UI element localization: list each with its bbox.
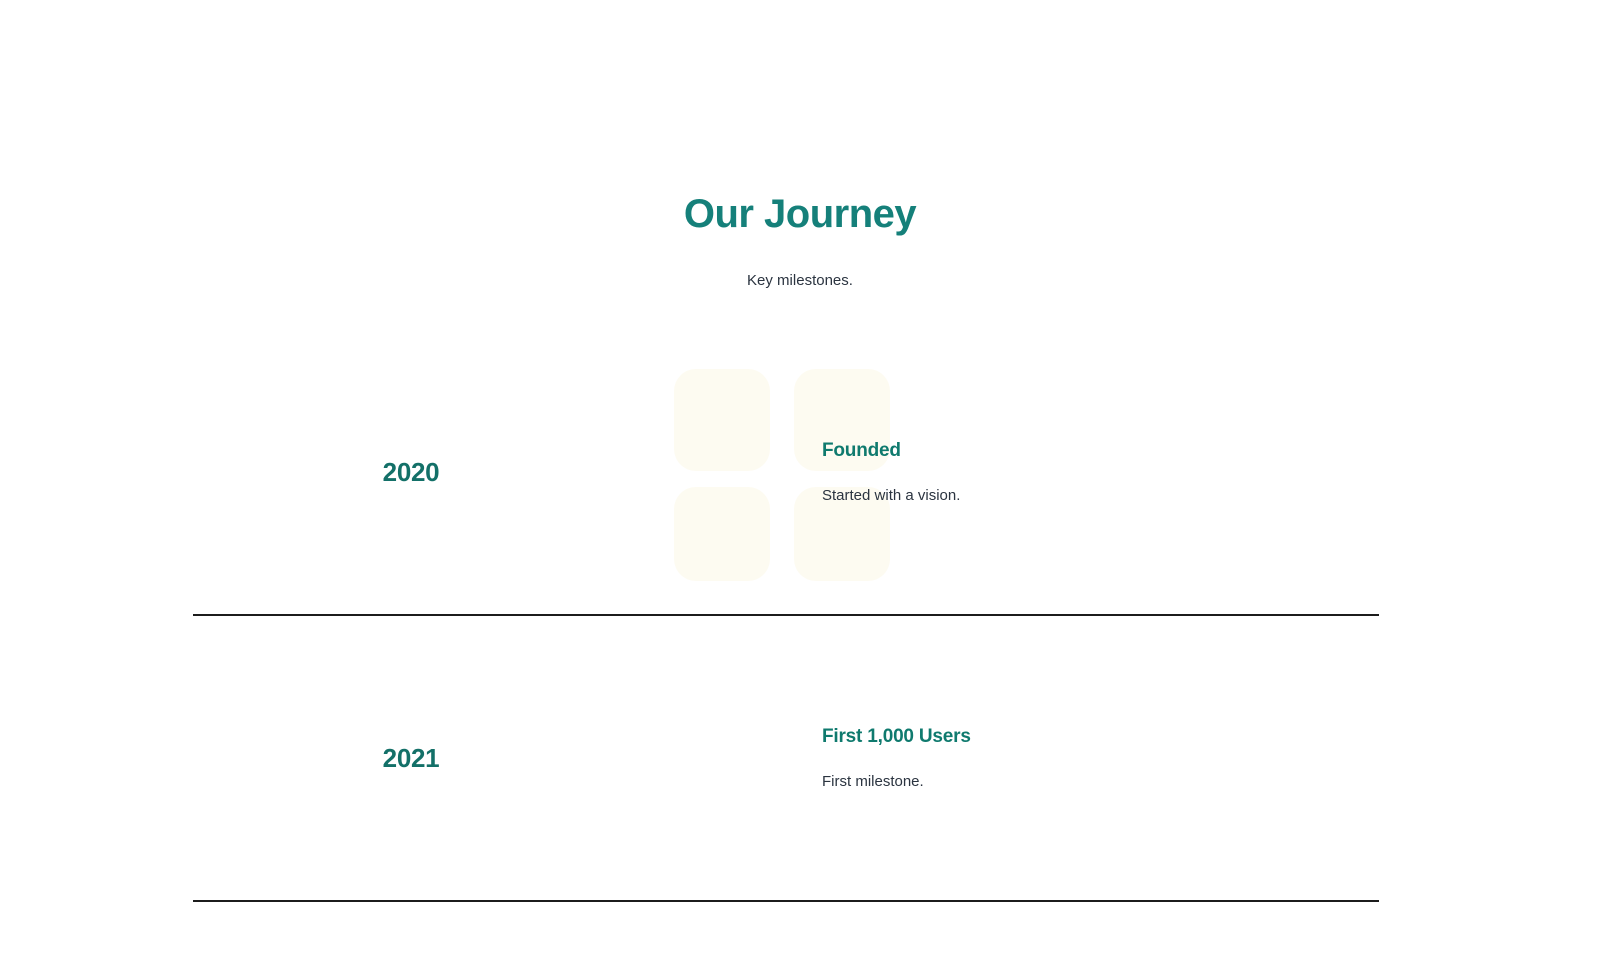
our-journey-page: Our Journey Key milestones. 2020 Founded…: [0, 0, 1600, 978]
timeline-row[interactable]: 2021 First 1,000 Users First milestone.: [193, 616, 1379, 902]
timeline-list: 2020 Founded Started with a vision. 2021…: [193, 330, 1379, 902]
section-header: Our Journey Key milestones.: [0, 190, 1600, 292]
timeline-description: Started with a vision.: [822, 464, 1379, 507]
timeline-year: 2021: [193, 742, 629, 774]
timeline-description: First milestone.: [822, 750, 1379, 793]
timeline-row-body: First 1,000 Users First milestone.: [629, 724, 1379, 793]
page-title: Our Journey: [0, 190, 1600, 238]
timeline-row[interactable]: 2020 Founded Started with a vision.: [193, 330, 1379, 616]
page-subtitle: Key milestones.: [0, 238, 1600, 292]
timeline-year: 2020: [193, 456, 629, 488]
timeline-heading: First 1,000 Users: [822, 724, 1379, 750]
timeline-row-body: Founded Started with a vision.: [629, 438, 1379, 507]
timeline-heading: Founded: [822, 438, 1379, 464]
